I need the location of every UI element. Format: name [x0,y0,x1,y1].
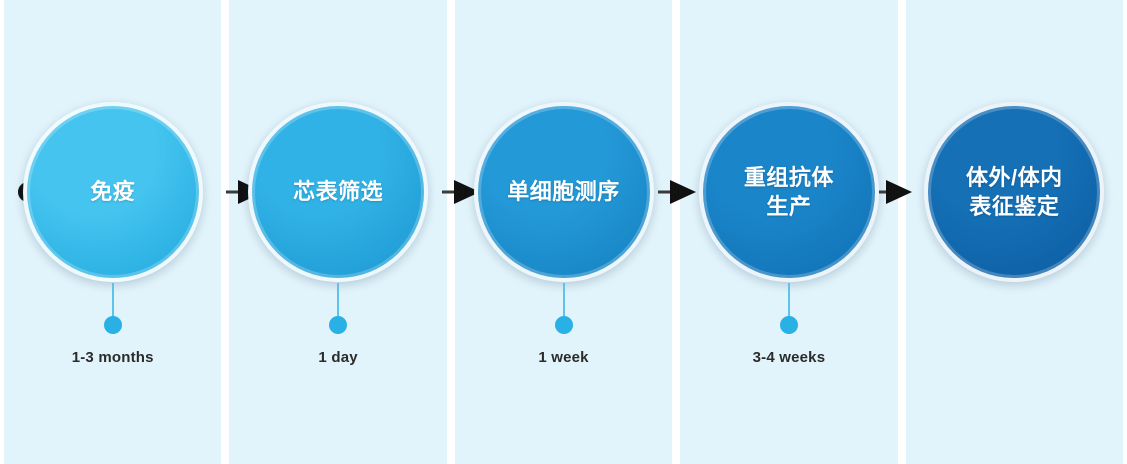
stage-2: 芯表筛选 1 day [229,0,446,464]
stage-label-2: 芯表筛选 [281,177,395,206]
caption-dot-2 [329,316,347,334]
stage-list: 免疫 1-3 months 芯表筛选 1 day 单细胞测序 1 week 重组… [0,0,1127,464]
stage-circle-2[interactable]: 芯表筛选 [248,102,428,282]
stage-3: 单细胞测序 1 week [455,0,672,464]
stage-label-5: 体外/体内 表征鉴定 [954,163,1075,221]
stage-caption-4: 3-4 weeks [680,349,897,366]
caption-dot-1 [104,316,122,334]
stage-circle-4[interactable]: 重组抗体 生产 [699,102,879,282]
stage-1: 免疫 1-3 months [4,0,221,464]
caption-dot-4 [780,316,798,334]
stage-label-1: 免疫 [78,177,147,206]
stage-circle-5[interactable]: 体外/体内 表征鉴定 [924,102,1104,282]
caption-dot-3 [555,316,573,334]
stage-caption-3: 1 week [455,349,672,366]
stage-4: 重组抗体 生产 3-4 weeks [680,0,897,464]
caption-stem-1 [112,283,114,319]
workflow-diagram: 免疫 1-3 months 芯表筛选 1 day 单细胞测序 1 week 重组… [0,0,1127,464]
stage-caption-1: 1-3 months [4,349,221,366]
stage-circle-1[interactable]: 免疫 [23,102,203,282]
caption-stem-3 [563,283,565,319]
caption-stem-2 [337,283,339,319]
stage-label-4: 重组抗体 生产 [732,163,846,221]
stage-label-3: 单细胞测序 [495,177,632,206]
stage-circle-3[interactable]: 单细胞测序 [474,102,654,282]
caption-stem-4 [788,283,790,319]
stage-5: 体外/体内 表征鉴定 [906,0,1123,464]
stage-caption-2: 1 day [229,349,446,366]
